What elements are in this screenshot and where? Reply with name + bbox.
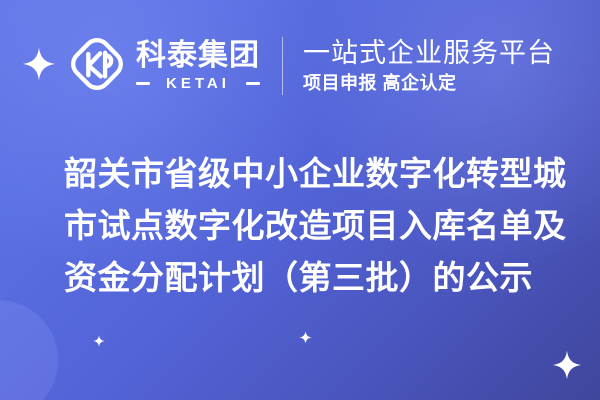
brand-rule-right xyxy=(246,82,260,85)
title-line-1: 韶关市省级中小企业数字化转型城 xyxy=(64,148,564,200)
page-title: 韶关市省级中小企业数字化转型城 市试点数字化改造项目入库名单及 资金分配计划（第… xyxy=(64,148,564,304)
brand-name-en-row: KETAI xyxy=(136,76,260,91)
tagline-block: 一站式企业服务平台 项目申报 高企认定 xyxy=(303,38,555,95)
brand-wordmark: 科泰集团 KETAI xyxy=(136,41,260,91)
header-divider xyxy=(282,37,283,95)
brand-name-en: KETAI xyxy=(155,76,241,91)
banner-header: 科泰集团 KETAI 一站式企业服务平台 项目申报 高企认定 xyxy=(0,0,600,132)
brand-logo[interactable]: 科泰集团 KETAI xyxy=(22,33,260,100)
title-line-3: 资金分配计划（第三批）的公示 xyxy=(64,252,564,304)
tagline-primary: 一站式企业服务平台 xyxy=(303,38,555,68)
brand-rule-left xyxy=(136,82,150,85)
sparkle-small-center-icon xyxy=(299,331,312,349)
tagline-secondary: 项目申报 高企认定 xyxy=(303,73,555,95)
ketai-diamond-monogram-icon xyxy=(66,33,128,100)
brand-name-cn: 科泰集团 xyxy=(136,41,260,71)
announcement-banner: 科泰集团 KETAI 一站式企业服务平台 项目申报 高企认定 韶关市省级中小企业… xyxy=(0,0,600,400)
title-line-2: 市试点数字化改造项目入库名单及 xyxy=(64,200,564,252)
sparkle-large-right-icon xyxy=(552,350,582,385)
sparkle-icon xyxy=(22,47,56,86)
circle-accent-left xyxy=(0,300,58,400)
sparkle-small-left-icon xyxy=(93,334,105,352)
